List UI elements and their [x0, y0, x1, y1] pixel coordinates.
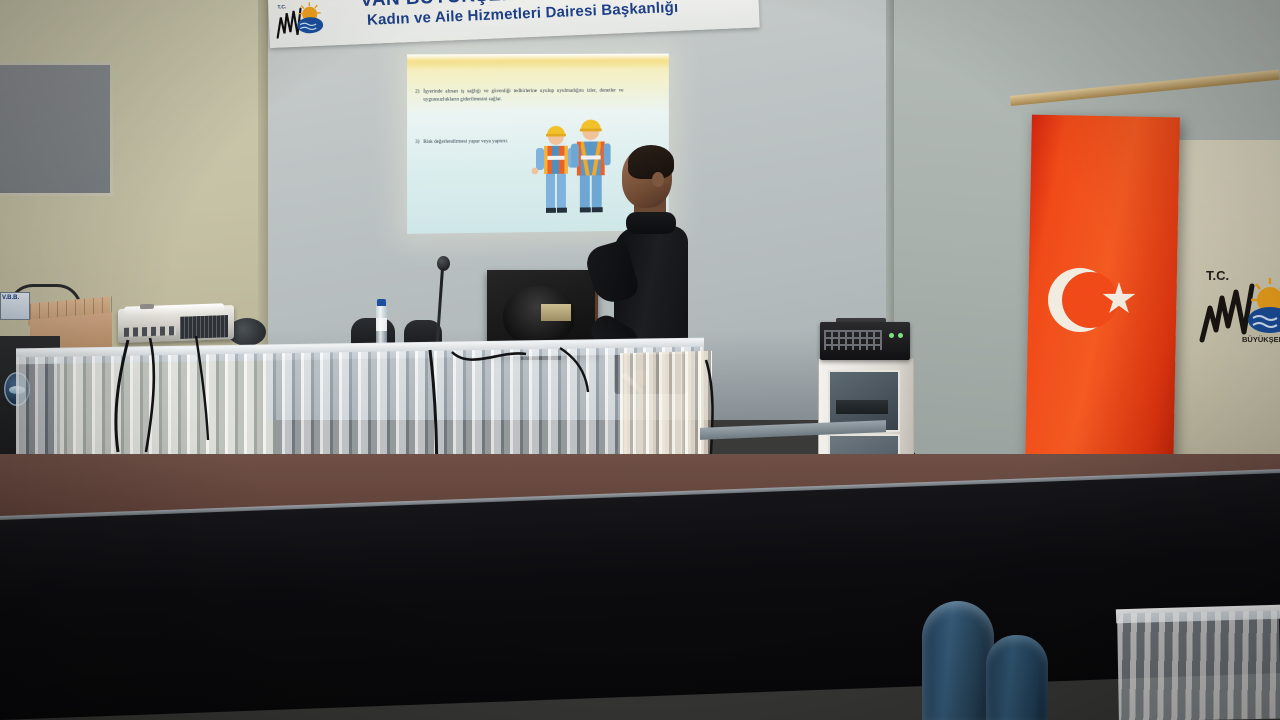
- flag-crescent-cutout: [1062, 272, 1118, 328]
- wall-board: [0, 62, 113, 196]
- foreground-auditorium-seat-2: [986, 635, 1048, 720]
- mixer-signal-led: [898, 333, 903, 338]
- foreground-white-cloth: [1117, 611, 1280, 720]
- microphone-head: [437, 256, 450, 271]
- lectern-nameplate-text: V.B.B.: [2, 295, 19, 301]
- monitor-label-sticker: [541, 304, 571, 321]
- slide-item-2-number: 2): [415, 89, 419, 95]
- projector-ports: [124, 326, 176, 337]
- svg-text:T.C.: T.C.: [277, 4, 287, 10]
- slide-item-3-text: Risk değerlendirmesi yapar veya yaptırır…: [423, 138, 544, 147]
- mixer-knob-grid: [824, 330, 882, 350]
- presenter-turtleneck-collar: [626, 212, 676, 234]
- water-bottle-label: [376, 318, 387, 331]
- van-municipality-logo: T.C.: [274, 0, 328, 46]
- projector-focus-knob: [140, 304, 154, 309]
- slide-top-gradient: [407, 54, 669, 71]
- water-bottle-cap: [377, 299, 386, 306]
- foreground-auditorium-seat-1: [922, 601, 994, 720]
- mixer-power-led: [889, 333, 894, 338]
- slide-item-2-text: İşyerinde alınan iş sağlığı ve güvenliği…: [423, 88, 623, 105]
- svg-text:T.C.: T.C.: [1206, 268, 1229, 283]
- van-municipality-wall-logo: T.C. BÜYÜKŞEHİR: [1196, 258, 1280, 362]
- slide-item-3-number: 3): [415, 139, 419, 145]
- projector-vent-grill: [180, 315, 228, 339]
- presenter-hair: [628, 145, 674, 179]
- svg-text:BÜYÜKŞEHİR: BÜYÜKŞEHİR: [1242, 335, 1280, 344]
- cabinet-rack-unit: [836, 400, 888, 414]
- seminar-room-photo: T.C. VAN BÜYÜKŞEHİR BELEDİYESİ Kadın ve …: [0, 0, 1280, 720]
- presenter-ear: [652, 172, 664, 187]
